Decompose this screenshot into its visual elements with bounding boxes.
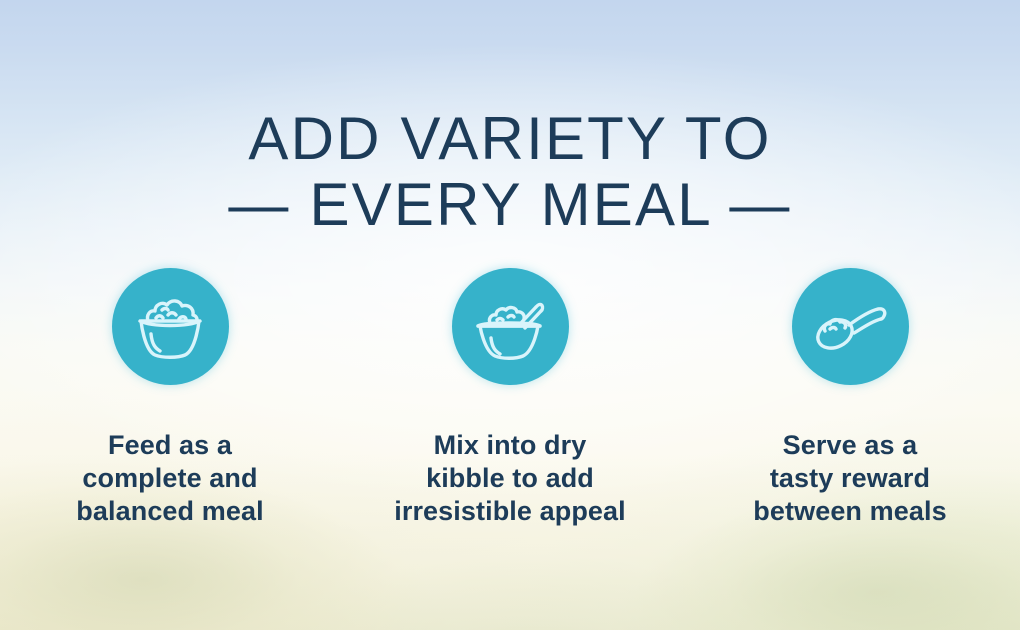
- page-title-line-2: — EVERY MEAL —: [0, 172, 1020, 238]
- page-title: ADD VARIETY TO — EVERY MEAL —: [0, 106, 1020, 238]
- bowl-with-spoon-icon: [452, 268, 569, 385]
- poster-content: ADD VARIETY TO — EVERY MEAL —: [0, 0, 1020, 630]
- feature-card-complete-meal: Feed as a complete and balanced meal: [0, 268, 340, 528]
- page-title-line-1: ADD VARIETY TO: [0, 106, 1020, 172]
- pet-food-bowl-icon: [112, 268, 229, 385]
- feature-card-mix-with-kibble: Mix into dry kibble to add irresistible …: [340, 268, 680, 528]
- feature-card-caption: Feed as a complete and balanced meal: [76, 429, 263, 528]
- promo-poster: ADD VARIETY TO — EVERY MEAL —: [0, 0, 1020, 630]
- feature-card-caption: Mix into dry kibble to add irresistible …: [394, 429, 626, 528]
- feature-card-tasty-reward: Serve as a tasty reward between meals: [680, 268, 1020, 528]
- feature-card-caption: Serve as a tasty reward between meals: [753, 429, 946, 528]
- feature-card-list: Feed as a complete and balanced meal: [0, 268, 1020, 528]
- spoon-with-food-icon: [792, 268, 909, 385]
